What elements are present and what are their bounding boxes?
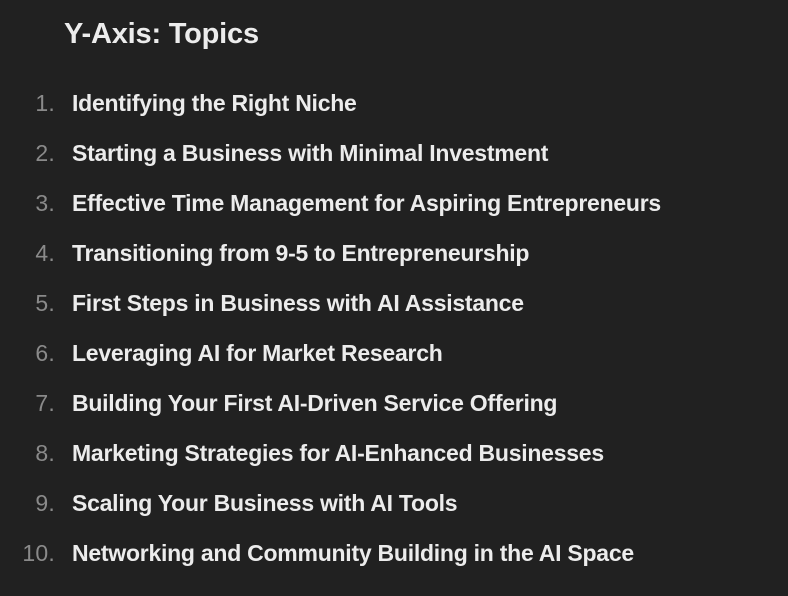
list-item-index: 7.	[0, 378, 55, 428]
list-item-label: Identifying the Right Niche	[55, 78, 357, 128]
list-item-index: 6.	[0, 328, 55, 378]
topics-list: 1. Identifying the Right Niche 2. Starti…	[0, 78, 788, 578]
list-item-label: Starting a Business with Minimal Investm…	[55, 128, 548, 178]
list-item[interactable]: 5. First Steps in Business with AI Assis…	[0, 278, 788, 328]
list-item[interactable]: 3. Effective Time Management for Aspirin…	[0, 178, 788, 228]
list-item-index: 2.	[0, 128, 55, 178]
list-item[interactable]: 6. Leveraging AI for Market Research	[0, 328, 788, 378]
list-item-index: 10.	[0, 528, 55, 578]
list-item-label: Building Your First AI-Driven Service Of…	[55, 378, 557, 428]
list-item-label: Marketing Strategies for AI-Enhanced Bus…	[55, 428, 604, 478]
list-item-index: 4.	[0, 228, 55, 278]
list-item-index: 1.	[0, 78, 55, 128]
list-item[interactable]: 9. Scaling Your Business with AI Tools	[0, 478, 788, 528]
list-item-label: First Steps in Business with AI Assistan…	[55, 278, 524, 328]
list-item-label: Scaling Your Business with AI Tools	[55, 478, 457, 528]
list-item[interactable]: 4. Transitioning from 9-5 to Entrepreneu…	[0, 228, 788, 278]
list-item-label: Effective Time Management for Aspiring E…	[55, 178, 661, 228]
list-item-index: 3.	[0, 178, 55, 228]
list-item[interactable]: 2. Starting a Business with Minimal Inve…	[0, 128, 788, 178]
topics-panel: Y-Axis: Topics 1. Identifying the Right …	[0, 0, 788, 596]
page-title: Y-Axis: Topics	[64, 17, 259, 51]
list-item-index: 9.	[0, 478, 55, 528]
list-item-index: 8.	[0, 428, 55, 478]
list-item[interactable]: 1. Identifying the Right Niche	[0, 78, 788, 128]
list-item-label: Networking and Community Building in the…	[55, 528, 634, 578]
list-item[interactable]: 8. Marketing Strategies for AI-Enhanced …	[0, 428, 788, 478]
list-item-label: Leveraging AI for Market Research	[55, 328, 443, 378]
list-item[interactable]: 7. Building Your First AI-Driven Service…	[0, 378, 788, 428]
list-item-index: 5.	[0, 278, 55, 328]
list-item[interactable]: 10. Networking and Community Building in…	[0, 528, 788, 578]
list-item-label: Transitioning from 9-5 to Entrepreneursh…	[55, 228, 529, 278]
